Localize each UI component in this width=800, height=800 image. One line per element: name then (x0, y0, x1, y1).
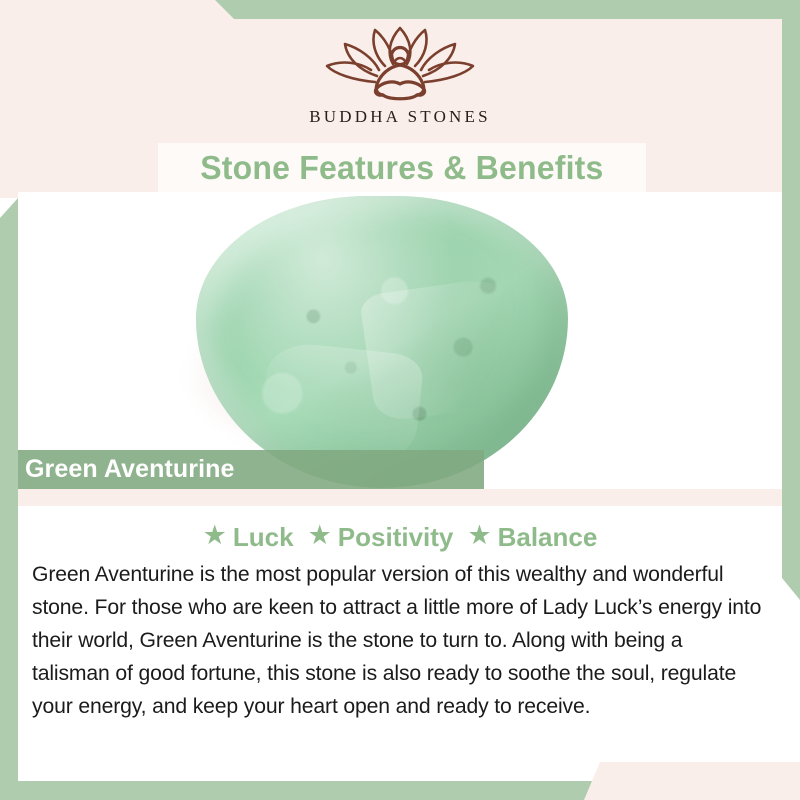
benefit-label: Balance (498, 522, 598, 553)
brand-wordmark: BUDDHA STONES (309, 107, 491, 127)
divider-cream-stripe (18, 489, 782, 506)
lotus-meditation-icon (315, 22, 485, 106)
star-icon: ★ (308, 522, 332, 549)
page-title: Stone Features & Benefits (200, 149, 603, 187)
benefit-item-balance: ★ Balance (467, 522, 597, 553)
section-title-band: Stone Features & Benefits (158, 143, 646, 193)
stone-name: Green Aventurine (25, 455, 235, 484)
stone-description: Green Aventurine is the most popular ver… (32, 558, 763, 723)
stone-info-card: BUDDHA STONES Stone Features & Benefits … (0, 0, 800, 800)
star-icon: ★ (203, 522, 227, 549)
brand-logo: BUDDHA STONES (0, 22, 800, 140)
benefit-label: Positivity (338, 522, 454, 553)
stone-photo (18, 192, 782, 490)
benefit-label: Luck (233, 522, 294, 553)
stone-name-band: Green Aventurine (18, 450, 484, 489)
benefit-item-luck: ★ Luck (203, 522, 294, 553)
frame-left-green-bar (0, 198, 18, 800)
star-icon: ★ (467, 522, 491, 549)
benefits-list: ★ Luck ★ Positivity ★ Balance (18, 517, 782, 557)
benefit-item-positivity: ★ Positivity (308, 522, 454, 553)
